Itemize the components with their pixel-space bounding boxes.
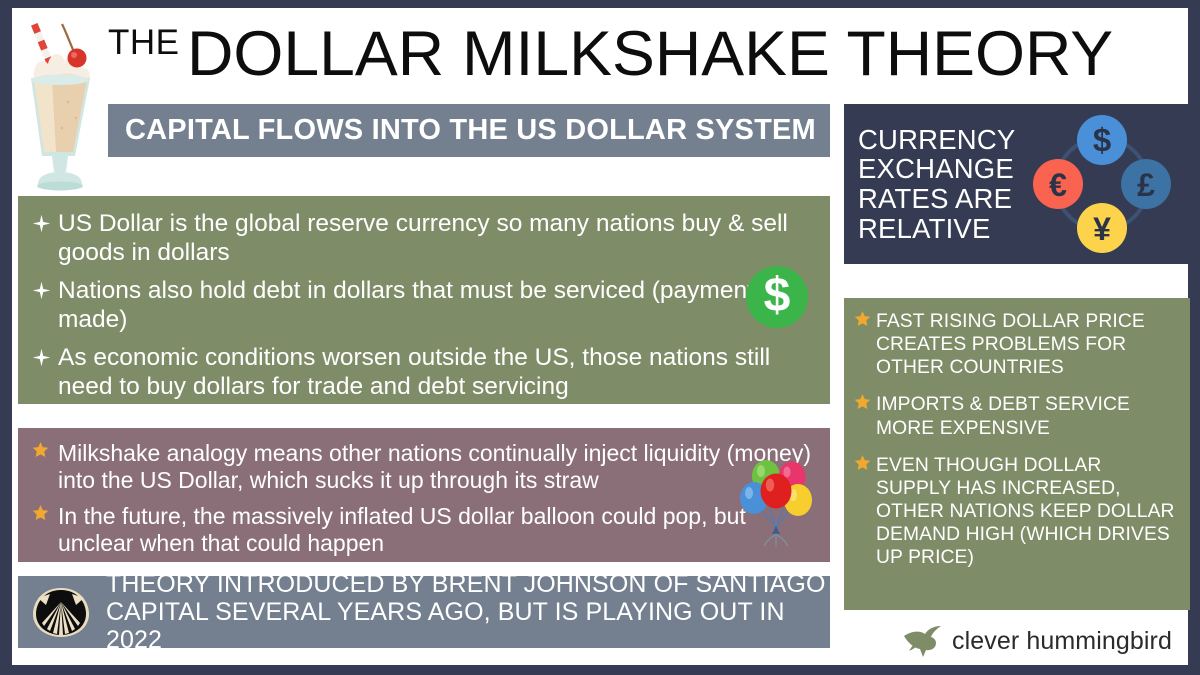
svg-text:£: £ xyxy=(1137,167,1155,203)
attribution-line-1: THEORY INTRODUCED BY BRENT JOHNSON OF SA… xyxy=(106,570,830,598)
star-bullet-icon xyxy=(32,440,58,494)
brand-logo: clever hummingbird xyxy=(844,616,1190,666)
list-item: As economic conditions worsen outside th… xyxy=(32,344,812,402)
green-panel-bullet-list: US Dollar is the global reserve currency… xyxy=(32,210,812,401)
list-item-text: Nations also hold debt in dollars that m… xyxy=(58,277,812,335)
left-column: CAPITAL FLOWS INTO THE US DOLLAR SYSTEM xyxy=(108,104,830,157)
list-item-text: US Dollar is the global reserve currency… xyxy=(58,210,812,268)
milkshake-analogy-panel: Milkshake analogy means other nations co… xyxy=(18,428,830,562)
page-title: THE DOLLAR MILKSHAKE THEORY xyxy=(108,12,1174,96)
list-item-text: FAST RISING DOLLAR PRICE CREATES PROBLEM… xyxy=(876,310,1178,379)
list-item: Milkshake analogy means other nations co… xyxy=(32,440,812,494)
svg-text:¥: ¥ xyxy=(1093,211,1111,247)
poster-canvas: THE DOLLAR MILKSHAKE THEORY CAPITAL FLOW… xyxy=(12,8,1188,665)
capital-flows-green-panel: US Dollar is the global reserve currency… xyxy=(18,196,830,404)
attribution-text: THEORY INTRODUCED BY BRENT JOHNSON OF SA… xyxy=(106,570,830,654)
sparkle-bullet-icon xyxy=(32,344,58,402)
capital-flows-banner: CAPITAL FLOWS INTO THE US DOLLAR SYSTEM xyxy=(108,104,830,157)
star-bullet-icon xyxy=(854,393,876,439)
scallop-shell-icon xyxy=(30,584,92,640)
currency-exchange-title: CURRENCY EXCHANGE RATES ARE RELATIVE xyxy=(844,125,1029,244)
dollar-effects-bullet-list: FAST RISING DOLLAR PRICE CREATES PROBLEM… xyxy=(854,310,1178,570)
balloon-bunch-icon xyxy=(726,450,822,550)
sparkle-bullet-icon xyxy=(32,210,58,268)
title-main: DOLLAR MILKSHAKE THEORY xyxy=(187,18,1113,90)
currency-exchange-diagram: $ € £ ¥ xyxy=(1027,109,1177,259)
title-prefix: THE xyxy=(108,23,180,63)
attribution-banner: THEORY INTRODUCED BY BRENT JOHNSON OF SA… xyxy=(18,576,830,648)
star-bullet-icon xyxy=(854,454,876,570)
currency-exchange-panel: CURRENCY EXCHANGE RATES ARE RELATIVE $ €… xyxy=(844,104,1190,264)
list-item: IMPORTS & DEBT SERVICE MORE EXPENSIVE xyxy=(854,393,1178,439)
infographic-poster: THE DOLLAR MILKSHAKE THEORY CAPITAL FLOW… xyxy=(0,0,1200,675)
capital-flows-label: CAPITAL FLOWS INTO THE US DOLLAR SYSTEM xyxy=(125,114,816,147)
list-item-text: IMPORTS & DEBT SERVICE MORE EXPENSIVE xyxy=(876,393,1178,439)
list-item-text: Milkshake analogy means other nations co… xyxy=(58,440,812,494)
list-item: FAST RISING DOLLAR PRICE CREATES PROBLEM… xyxy=(854,310,1178,379)
hummingbird-icon xyxy=(901,624,945,658)
list-item: EVEN THOUGH DOLLAR SUPPLY HAS INCREASED,… xyxy=(854,454,1178,570)
dollar-symbol: $ xyxy=(764,272,791,320)
list-item: Nations also hold debt in dollars that m… xyxy=(32,277,812,335)
list-item-text: In the future, the massively inflated US… xyxy=(58,503,812,557)
svg-text:€: € xyxy=(1049,167,1067,203)
dollar-coin-icon: $ xyxy=(746,266,808,328)
list-item: In the future, the massively inflated US… xyxy=(32,503,812,557)
poster-header: THE DOLLAR MILKSHAKE THEORY xyxy=(12,8,1188,100)
list-item: US Dollar is the global reserve currency… xyxy=(32,210,812,268)
brand-name: clever hummingbird xyxy=(952,627,1172,656)
attribution-line-2: CAPITAL SEVERAL YEARS AGO, BUT IS PLAYIN… xyxy=(106,598,830,654)
list-item-text: EVEN THOUGH DOLLAR SUPPLY HAS INCREASED,… xyxy=(876,454,1178,570)
list-item-text: As economic conditions worsen outside th… xyxy=(58,344,812,402)
star-bullet-icon xyxy=(32,503,58,557)
sparkle-bullet-icon xyxy=(32,277,58,335)
star-bullet-icon xyxy=(854,310,876,379)
dollar-effects-panel: FAST RISING DOLLAR PRICE CREATES PROBLEM… xyxy=(844,298,1190,610)
mauve-panel-bullet-list: Milkshake analogy means other nations co… xyxy=(32,440,812,558)
svg-text:$: $ xyxy=(1093,122,1111,159)
